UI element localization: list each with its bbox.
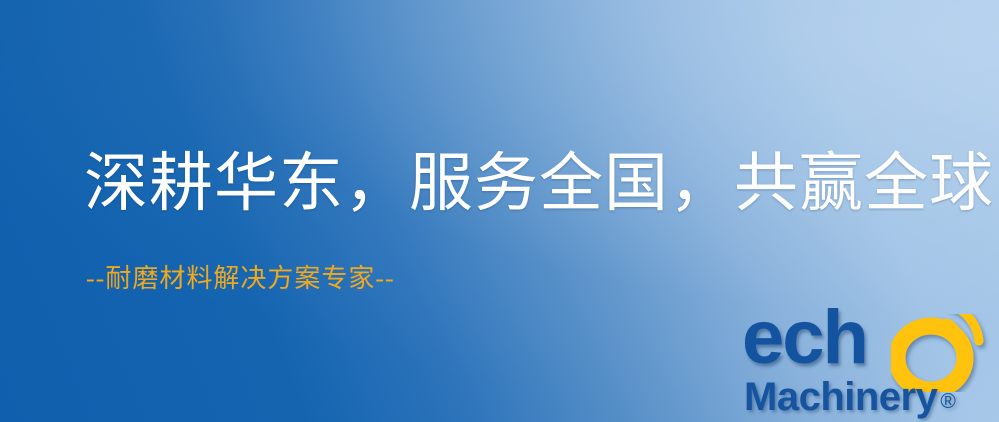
banner-subtitle: --耐磨材料解决方案专家-- xyxy=(86,266,395,292)
logo-tagline-text: Machinery xyxy=(744,375,937,419)
promo-banner: 深耕华东，服务全国，共赢全球 --耐磨材料解决方案专家-- ech xyxy=(0,0,999,422)
banner-headline: 深耕华东，服务全国，共赢全球 xyxy=(84,152,994,216)
echo-machinery-logo: ech Machinery® xyxy=(742,300,994,418)
logo-tagline-row: Machinery® xyxy=(744,376,955,422)
registered-trademark-mark: ® xyxy=(940,390,955,413)
